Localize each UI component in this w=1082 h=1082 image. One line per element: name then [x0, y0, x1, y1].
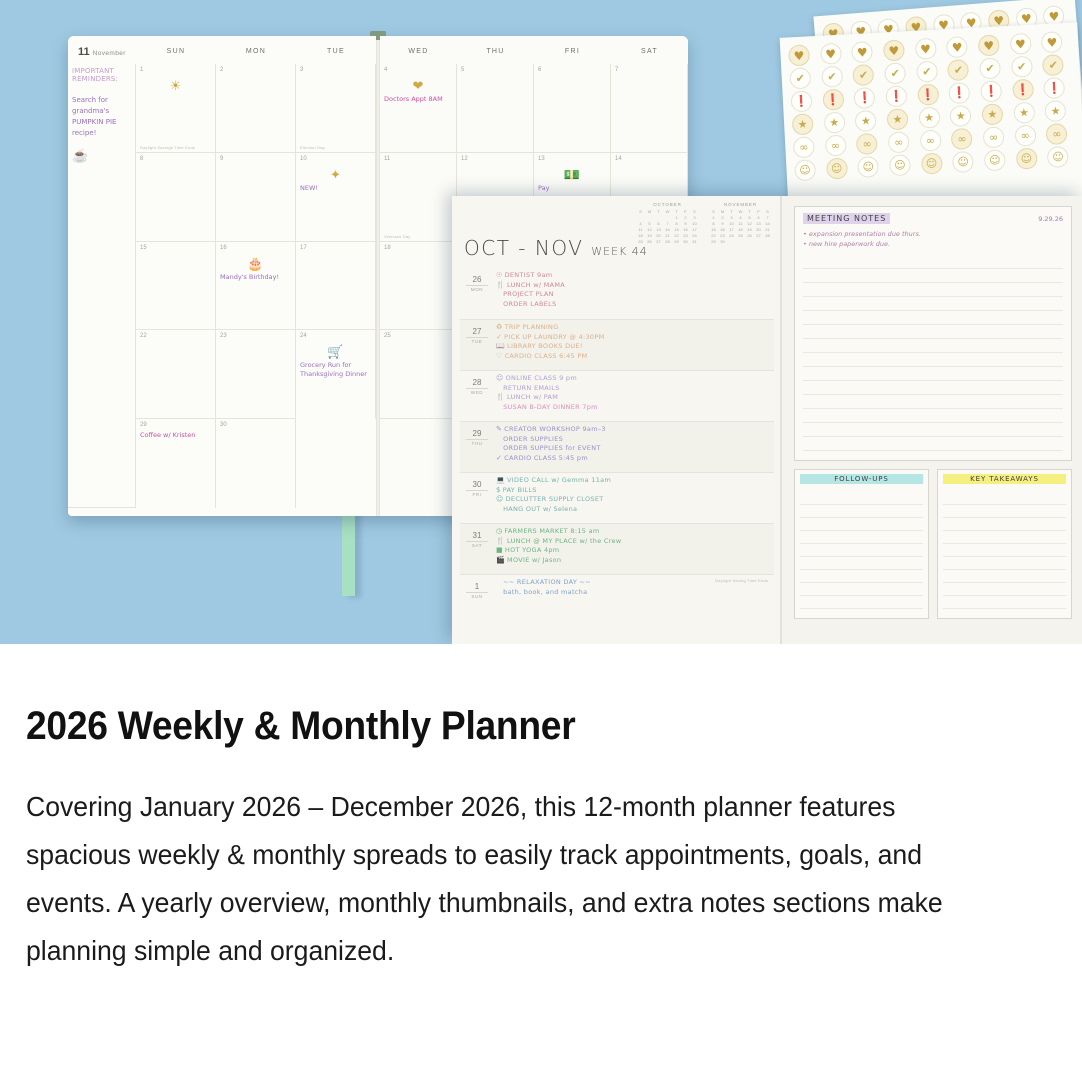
spacer-icon — [496, 435, 501, 443]
sticker-check-icon: ✔ — [1011, 56, 1033, 78]
spacer-icon — [496, 300, 501, 308]
weekly-weekday: WED — [466, 388, 488, 395]
screen-icon: 💻 — [496, 476, 505, 484]
weekly-entries: ☉DENTIST 9am🍴LUNCH w/ MAMA PROJECT PLAN … — [494, 271, 774, 319]
day-number: 22 — [140, 333, 211, 339]
sticker-check-icon: ✔ — [852, 64, 874, 86]
calendar-day-cell[interactable] — [296, 419, 376, 508]
sticker-star-icon: ★ — [1013, 102, 1035, 124]
calendar-day-cell[interactable]: 5 — [457, 64, 534, 153]
weekly-weekday: FRI — [466, 490, 488, 497]
weekly-day-row[interactable]: 29THU✎CREATOR WORKSHOP 9am–3 ORDER SUPPL… — [460, 421, 774, 472]
meeting-notes-ruled-lines — [803, 255, 1063, 454]
dow-thu: THU — [457, 48, 534, 55]
fork-knife-icon: 🍴 — [496, 537, 505, 545]
sun-doodle-icon: ☀ — [140, 79, 211, 92]
calendar-day-cell[interactable]: 10✦NEW! — [296, 153, 376, 242]
mini-calendar-grid: SMTWTFS123456789101112131415161718192021… — [709, 209, 772, 245]
day-number: 29 — [140, 422, 211, 428]
dow-tue: TUE — [296, 48, 376, 55]
spacer-icon — [496, 444, 501, 452]
mini-day — [754, 239, 763, 245]
mini-day: 29 — [672, 239, 681, 245]
fork-knife-icon: 🍴 — [496, 281, 505, 289]
sticker-grid-front: ♥♥♥♥♥♥♥♥♥✔✔✔✔✔✔✔✔✔❗❗❗❗❗❗❗❗❗★★★★★★★★★∞∞∞∞… — [788, 31, 1080, 209]
day-note: NEW! — [300, 184, 371, 193]
weekly-page-left: OCTOBERSMTWTFS12345678910111213141516171… — [452, 196, 782, 644]
weekly-day-number: 27 — [460, 327, 494, 336]
calendar-day-cell[interactable]: 30 — [216, 419, 296, 508]
meeting-notes-header: MEETING NOTES 9.29.26 — [803, 213, 1063, 224]
calendar-day-cell[interactable]: 24🛒Grocery Run for Thanksgiving Dinner — [296, 330, 376, 419]
calendar-day-cell[interactable]: 18 — [380, 242, 457, 331]
spacer-icon — [496, 578, 501, 586]
weekly-entry-text: CARDIO CLASS 6:45 PM — [505, 352, 588, 360]
calendar-day-cell[interactable]: 2 — [216, 64, 296, 153]
dow-sun: SUN — [136, 48, 216, 55]
weekly-entries: ♻TRIP PLANNING✓PICK UP LAUNDRY @ 4:30PM📖… — [494, 323, 774, 370]
calendar-day-cell[interactable]: 11Veterans Day — [380, 153, 457, 242]
day-number: 10 — [300, 156, 371, 162]
sticker-heart-icon: ♥ — [946, 36, 968, 58]
weekly-entry-text: CREATOR WORKSHOP 9am–3 — [504, 425, 606, 433]
reminders-heading: IMPORTANT REMINDERS: — [72, 67, 131, 83]
dow-fri: FRI — [534, 48, 611, 55]
weekly-day-number: 30 — [460, 480, 494, 489]
weekly-date: 28WED — [460, 374, 494, 421]
sticker-smiley-icon: ☺ — [889, 154, 911, 176]
weekly-entry[interactable]: bath, book, and matcha — [496, 588, 774, 598]
weekly-entry[interactable]: ORDER SUPPLIES for EVENT — [496, 444, 774, 454]
tooth-icon: ☉ — [496, 271, 503, 279]
sticker-exclamation-icon: ❗ — [1012, 79, 1034, 101]
day-number: 30 — [220, 422, 291, 428]
dow-row-left: SUNMONTUE — [68, 48, 376, 55]
product-description: Covering January 2026 – December 2026, t… — [26, 783, 1005, 975]
sticker-star-icon: ★ — [950, 105, 972, 127]
weekly-entry-text: HANG OUT w/ Selena — [503, 505, 577, 513]
weekly-entry-text: PICK UP LAUNDRY @ 4:30PM — [504, 333, 604, 341]
weekly-entry[interactable]: ■HOT YOGA 4pm — [496, 546, 774, 556]
dow-wed: WED — [380, 48, 457, 55]
weekly-entry-text: SUSAN B-DAY DINNER 7pm — [503, 403, 598, 411]
sticker-infinity-icon: ∞ — [919, 130, 941, 152]
monthly-page-left: 11November SUNMONTUE IMPORTANT REMINDERS… — [68, 36, 376, 516]
day-footnote: Daylight Savings Time Ends — [140, 145, 195, 150]
sparkle-doodle-icon: ✦ — [300, 168, 371, 181]
day-number: 7 — [615, 67, 683, 73]
meeting-notes-date: 9.29.26 — [1038, 215, 1063, 223]
weekly-weekday: SUN — [466, 592, 488, 599]
sticker-star-icon: ★ — [918, 107, 940, 129]
weekly-entry[interactable]: 💻VIDEO CALL w/ Gemma 11am — [496, 476, 774, 486]
day-number: 12 — [461, 156, 529, 162]
sticker-smiley-icon: ☺ — [984, 149, 1006, 171]
money-icon: $ — [496, 486, 501, 494]
sticker-smiley-icon: ☺ — [794, 159, 816, 181]
sticker-smiley-icon: ☺ — [921, 153, 943, 175]
day-number: 1 — [140, 67, 211, 73]
follow-ups-ruled-lines — [800, 492, 923, 613]
sticker-infinity-icon: ∞ — [888, 131, 910, 153]
weekly-entry-text: RETURN EMAILS — [503, 384, 560, 392]
sticker-check-icon: ✔ — [979, 57, 1001, 79]
weekly-entry[interactable]: ✎CREATOR WORKSHOP 9am–3 — [496, 425, 774, 435]
sticker-infinity-icon: ∞ — [793, 136, 815, 158]
page-title: 2026 Weekly & Monthly Planner — [26, 704, 984, 749]
calendar-day-cell[interactable]: 16🎂Mandy's Birthday! — [216, 242, 296, 331]
calendar-day-cell[interactable]: 6 — [534, 64, 611, 153]
weekly-day-number: 1 — [460, 582, 494, 591]
calendar-day-cell[interactable]: 9 — [216, 153, 296, 242]
weekly-weekday: THU — [466, 439, 488, 446]
sticker-sheet-front: ♥♥♥♥♥♥♥♥♥✔✔✔✔✔✔✔✔✔❗❗❗❗❗❗❗❗❗★★★★★★★★★∞∞∞∞… — [780, 22, 1082, 212]
dow-sat: SAT — [611, 48, 688, 55]
weekly-entry[interactable]: ♡CARDIO CLASS 6:45 PM — [496, 352, 774, 362]
spacer-icon — [496, 505, 501, 513]
book-icon: 📖 — [496, 342, 505, 350]
weekly-day-row[interactable]: 27TUE♻TRIP PLANNING✓PICK UP LAUNDRY @ 4:… — [460, 319, 774, 370]
sticker-heart-icon: ♥ — [851, 41, 873, 63]
day-number: 11 — [384, 156, 452, 162]
sticker-exclamation-icon: ❗ — [980, 80, 1002, 102]
sticker-exclamation-icon: ❗ — [854, 87, 876, 109]
weekly-day-row[interactable]: 26MON☉DENTIST 9am🍴LUNCH w/ MAMA PROJECT … — [460, 268, 774, 319]
sticker-infinity-icon: ∞ — [1046, 123, 1068, 145]
sticker-heart-icon: ♥ — [883, 39, 905, 61]
day-number: 6 — [538, 67, 606, 73]
weekly-footnote: Daylight Saving Time Ends — [715, 578, 768, 583]
calendar-day-cell[interactable]: 1☀Daylight Savings Time Ends — [136, 64, 216, 153]
recycle-icon: ♻ — [496, 323, 503, 331]
weekly-entry-text: PAY BILLS — [503, 486, 537, 494]
sticker-star-icon: ★ — [823, 112, 845, 134]
calendar-day-cell[interactable]: 29Coffee w/ Kristen — [136, 419, 216, 508]
sticker-check-icon: ✔ — [916, 61, 938, 83]
meeting-note-bullet: • expansion presentation due thurs. — [803, 229, 1063, 239]
follow-ups-box: FOLLOW-UPS — [794, 469, 929, 619]
sticker-infinity-icon: ∞ — [1014, 125, 1036, 147]
weekly-entry-text: ONLINE CLASS 9 pm — [506, 374, 577, 382]
weekly-entry[interactable]: ♻TRIP PLANNING — [496, 323, 774, 333]
weekly-entry-text: VIDEO CALL w/ Gemma 11am — [507, 476, 611, 484]
weekly-entry-text: DENTIST 9am — [505, 271, 553, 279]
day-number: 18 — [384, 245, 452, 251]
calendar-day-cell[interactable]: 4❤Doctors Appt 8AM — [380, 64, 457, 153]
weekly-entries: 💻VIDEO CALL w/ Gemma 11am$PAY BILLS☺DECL… — [494, 476, 774, 523]
meeting-note-text: expansion presentation due thurs. — [809, 230, 921, 238]
weekly-title-text: OCT - NOV — [464, 236, 583, 260]
heart-doodle-icon: ❤ — [384, 79, 452, 92]
sticker-heart-icon: ♥ — [978, 34, 1000, 56]
follow-ups-label: FOLLOW-UPS — [800, 474, 923, 484]
sticker-heart-icon: ♥ — [820, 43, 842, 65]
day-number: 15 — [140, 245, 211, 251]
sticker-exclamation-icon: ❗ — [790, 90, 812, 112]
meeting-notes-card: MEETING NOTES 9.29.26 • expansion presen… — [794, 206, 1072, 461]
weekly-entry-text: HOT YOGA 4pm — [505, 546, 560, 554]
weekly-date: 27TUE — [460, 323, 494, 370]
sticker-infinity-icon: ∞ — [951, 128, 973, 150]
calendar-day-cell[interactable]: 8 — [136, 153, 216, 242]
day-number: 2 — [220, 67, 291, 73]
weekly-entry[interactable]: SUSAN B-DAY DINNER 7pm — [496, 403, 774, 413]
weekly-entry-text: ORDER SUPPLIES — [503, 435, 563, 443]
sticker-star-icon: ★ — [792, 113, 814, 135]
mini-day: 29 — [709, 239, 718, 245]
weekly-date: 29THU — [460, 425, 494, 472]
weekly-entries: ☺ONLINE CLASS 9 pm RETURN EMAILS🍴LUNCH w… — [494, 374, 774, 421]
sticker-heart-icon: ♥ — [1009, 33, 1031, 55]
sticker-infinity-icon: ∞ — [856, 133, 878, 155]
mini-day — [727, 239, 736, 245]
weekly-weekday: TUE — [466, 337, 488, 344]
weekly-entry-text: DECLUTTER SUPPLY CLOSET — [506, 495, 604, 503]
sticker-star-icon: ★ — [1045, 100, 1067, 122]
weekly-entry-text: LUNCH w/ PAM — [507, 393, 558, 401]
day-number: 8 — [140, 156, 211, 162]
weekly-entries: ✎CREATOR WORKSHOP 9am–3 ORDER SUPPLIES O… — [494, 425, 774, 472]
sticker-exclamation-icon: ❗ — [822, 89, 844, 111]
mini-day — [745, 239, 754, 245]
calendar-day-cell[interactable]: 7 — [611, 64, 688, 153]
cupcake-doodle-icon: ☕ — [72, 149, 131, 162]
spacer-icon — [496, 403, 501, 411]
day-footnote: Election Day — [300, 145, 325, 150]
calendar-day-cell[interactable]: 23 — [216, 330, 296, 419]
weekly-day-number: 28 — [460, 378, 494, 387]
weekly-entry-text: MOVIE w/ Jason — [507, 556, 561, 564]
day-number: 5 — [461, 67, 529, 73]
weekly-date: 31SAT — [460, 527, 494, 574]
smiley-icon: ☺ — [496, 374, 504, 382]
day-note: Mandy's Birthday! — [220, 273, 291, 282]
mat-icon: ■ — [496, 546, 503, 554]
sticker-heart-icon: ♥ — [1041, 31, 1063, 53]
calendar-day-cell[interactable] — [380, 419, 457, 508]
sticker-check-icon: ✔ — [884, 62, 906, 84]
day-number: 25 — [384, 333, 452, 339]
ribbon-bookmark — [342, 508, 355, 596]
weekly-entry-text: LUNCH @ MY PLACE w/ the Crew — [507, 537, 621, 545]
day-note: Grocery Run for Thanksgiving Dinner — [300, 361, 371, 378]
mini-day — [763, 239, 772, 245]
weekly-entries: ~~ RELAXATION DAY ~~ bath, book, and mat… — [494, 578, 774, 625]
spacer-icon — [496, 588, 501, 596]
weekly-entry[interactable]: 🍴LUNCH w/ MAMA — [496, 281, 774, 291]
weekly-entry[interactable]: ☺DECLUTTER SUPPLY CLOSET — [496, 495, 774, 505]
cart-doodle-icon: 🛒 — [300, 345, 371, 358]
key-takeaways-label: KEY TAKEAWAYS — [943, 474, 1066, 484]
weekly-day-row[interactable]: 31SAT◷FARMERS MARKET 8:15 am🍴LUNCH @ MY … — [460, 523, 774, 574]
weekly-entry[interactable]: 🍴LUNCH w/ PAM — [496, 393, 774, 403]
weekly-entry[interactable]: HANG OUT w/ Selena — [496, 505, 774, 515]
sticker-star-icon: ★ — [981, 103, 1003, 125]
money-doodle-icon: 💵 — [538, 168, 606, 181]
weekly-entry[interactable]: PROJECT PLAN — [496, 290, 774, 300]
weekly-entry[interactable]: ORDER SUPPLIES — [496, 435, 774, 445]
sticker-heart-icon: ♥ — [915, 38, 937, 60]
dow-row-right: WEDTHUFRISAT — [380, 48, 688, 55]
weekly-entry[interactable]: ✓CARDIO CLASS 5:45 pm — [496, 454, 774, 464]
sticker-smiley-icon: ☺ — [857, 156, 879, 178]
dow-mon: MON — [216, 48, 296, 55]
calendar-day-cell[interactable]: 17 — [296, 242, 376, 331]
weekly-entry-text: ~~ RELAXATION DAY ~~ — [503, 578, 591, 586]
notes-sub-boxes: FOLLOW-UPS KEY TAKEAWAYS — [794, 469, 1072, 619]
weekly-weekday: SAT — [466, 541, 488, 548]
meeting-note-bullet: • new hire paperwork due. — [803, 239, 1063, 249]
mini-day: 31 — [690, 239, 699, 245]
calendar-day-cell[interactable]: 22 — [136, 330, 216, 419]
day-note: Pay — [538, 184, 606, 193]
weekly-day-rows: 26MON☉DENTIST 9am🍴LUNCH w/ MAMA PROJECT … — [460, 268, 774, 640]
day-number: 17 — [300, 245, 371, 251]
product-text-block: 2026 Weekly & Monthly Planner Covering J… — [0, 644, 1082, 975]
heart-icon: ♡ — [496, 352, 503, 360]
weekly-title: OCT - NOV WEEK 44 — [464, 236, 648, 260]
key-takeaways-ruled-lines — [943, 492, 1066, 613]
sticker-check-icon: ✔ — [947, 59, 969, 81]
day-number: 13 — [538, 156, 606, 162]
weekly-entry-text: ORDER LABELS — [503, 300, 556, 308]
key-takeaways-box: KEY TAKEAWAYS — [937, 469, 1072, 619]
day-number: 9 — [220, 156, 291, 162]
sticker-star-icon: ★ — [855, 110, 877, 132]
mini-calendar-title: OCTOBER — [636, 202, 699, 207]
spacer-icon — [496, 384, 501, 392]
weekly-entry-text: TRIP PLANNING — [505, 323, 559, 331]
sticker-exclamation-icon: ❗ — [917, 84, 939, 106]
day-footnote: Veterans Day — [384, 234, 410, 239]
weekly-planner-spread: OCTOBERSMTWTFS12345678910111213141516171… — [452, 196, 1082, 644]
weekly-day-row[interactable]: 28WED☺ONLINE CLASS 9 pm RETURN EMAILS🍴LU… — [460, 370, 774, 421]
mini-calendar-november: NOVEMBERSMTWTFS1234567891011121314151617… — [709, 202, 772, 245]
product-photo: ♥♥♥♥♥♥♥♥♥✔✔✔✔✔✔✔✔✔❗❗❗❗❗❗❗❗❗★★★★★★★★★∞∞∞∞… — [0, 0, 1082, 644]
mini-calendars: OCTOBERSMTWTFS12345678910111213141516171… — [636, 202, 772, 245]
sticker-infinity-icon: ∞ — [983, 126, 1005, 148]
weekly-day-number: 31 — [460, 531, 494, 540]
mini-day: 28 — [663, 239, 672, 245]
weekly-entry[interactable]: $PAY BILLS — [496, 486, 774, 496]
weekly-entry-text: PROJECT PLAN — [503, 290, 554, 298]
weekly-entry-text: ORDER SUPPLIES for EVENT — [503, 444, 601, 452]
check-icon: ✓ — [496, 333, 502, 341]
weekly-week-label: WEEK 44 — [591, 245, 647, 258]
mini-calendar-title: NOVEMBER — [709, 202, 772, 207]
sticker-heart-icon: ♥ — [788, 44, 810, 66]
weekly-day-number: 26 — [460, 275, 494, 284]
meeting-note-text: new hire paperwork due. — [809, 240, 890, 248]
day-number: 14 — [615, 156, 683, 162]
weekly-date: 30FRI — [460, 476, 494, 523]
weekly-entry[interactable]: ◷FARMERS MARKET 8:15 am — [496, 527, 774, 537]
calendar-day-cell[interactable]: 25 — [380, 330, 457, 419]
calendar-day-cell[interactable]: 15 — [136, 242, 216, 331]
monthly-grid-left: IMPORTANT REMINDERS:Search for grandma's… — [68, 64, 376, 508]
meeting-notes-title: MEETING NOTES — [803, 213, 890, 224]
weekly-entry[interactable]: RETURN EMAILS — [496, 384, 774, 394]
cake-doodle-icon: 🎂 — [220, 257, 291, 270]
weekly-date: 26MON — [460, 271, 494, 319]
weekly-entry[interactable]: ✓PICK UP LAUNDRY @ 4:30PM — [496, 333, 774, 343]
day-number: 23 — [220, 333, 291, 339]
fork-knife-icon: 🍴 — [496, 393, 505, 401]
weekly-entries: ◷FARMERS MARKET 8:15 am🍴LUNCH @ MY PLACE… — [494, 527, 774, 574]
check-icon: ✓ — [496, 454, 502, 462]
smiley-icon: ☺ — [496, 495, 504, 503]
sticker-smiley-icon: ☺ — [826, 158, 848, 180]
weekly-entry[interactable]: ☉DENTIST 9am — [496, 271, 774, 281]
weekly-day-row[interactable]: 1SUN ~~ RELAXATION DAY ~~ bath, book, an… — [460, 574, 774, 625]
weekly-entry-text: FARMERS MARKET 8:15 am — [504, 527, 599, 535]
calendar-day-cell[interactable]: 3Election Day — [296, 64, 376, 153]
day-number: 3 — [300, 67, 371, 73]
sticker-check-icon: ✔ — [789, 67, 811, 89]
sticker-smiley-icon: ☺ — [1015, 148, 1037, 170]
weekly-entry-text: CARDIO CLASS 5:45 pm — [504, 454, 588, 462]
sticker-smiley-icon: ☺ — [1047, 146, 1069, 168]
day-note: Coffee w/ Kristen — [140, 431, 211, 440]
day-number: 16 — [220, 245, 291, 251]
sticker-star-icon: ★ — [886, 108, 908, 130]
weekly-day-number: 29 — [460, 429, 494, 438]
weekly-entry[interactable]: 🎬MOVIE w/ Jason — [496, 556, 774, 566]
spacer-icon — [496, 290, 501, 298]
sticker-smiley-icon: ☺ — [952, 151, 974, 173]
mini-day: 27 — [654, 239, 663, 245]
day-number: 24 — [300, 333, 371, 339]
mini-day: 30 — [681, 239, 690, 245]
weekly-entry-text: LUNCH w/ MAMA — [507, 281, 565, 289]
weekly-entry[interactable]: 🍴LUNCH @ MY PLACE w/ the Crew — [496, 537, 774, 547]
sticker-check-icon: ✔ — [821, 66, 843, 88]
weekly-entry[interactable]: ORDER LABELS — [496, 300, 774, 310]
sticker-exclamation-icon: ❗ — [885, 85, 907, 107]
sticker-exclamation-icon: ❗ — [1043, 77, 1065, 99]
pen-icon: ✎ — [496, 425, 502, 433]
sticker-check-icon: ✔ — [1042, 54, 1064, 76]
weekly-day-row[interactable]: 30FRI💻VIDEO CALL w/ Gemma 11am$PAY BILLS… — [460, 472, 774, 523]
day-note: Doctors Appt 8AM — [384, 95, 452, 104]
clock-icon: ◷ — [496, 527, 502, 535]
film-icon: 🎬 — [496, 556, 505, 564]
day-number: 4 — [384, 67, 452, 73]
weekly-page-right: MEETING NOTES 9.29.26 • expansion presen… — [782, 196, 1082, 644]
weekly-entry-text: LIBRARY BOOKS DUE! — [507, 342, 583, 350]
mini-day: 30 — [718, 239, 727, 245]
sticker-exclamation-icon: ❗ — [949, 82, 971, 104]
reminders-note: Search for grandma's PUMPKIN PIE recipe! — [72, 95, 131, 139]
weekly-weekday: MON — [466, 285, 488, 292]
weekly-entry[interactable]: 📖LIBRARY BOOKS DUE! — [496, 342, 774, 352]
weekly-entry-text: bath, book, and matcha — [503, 588, 587, 596]
weekly-entry[interactable]: ☺ONLINE CLASS 9 pm — [496, 374, 774, 384]
weekly-date: 1SUN — [460, 578, 494, 625]
important-reminders-cell: IMPORTANT REMINDERS:Search for grandma's… — [68, 64, 136, 508]
sticker-infinity-icon: ∞ — [824, 135, 846, 157]
mini-day — [736, 239, 745, 245]
